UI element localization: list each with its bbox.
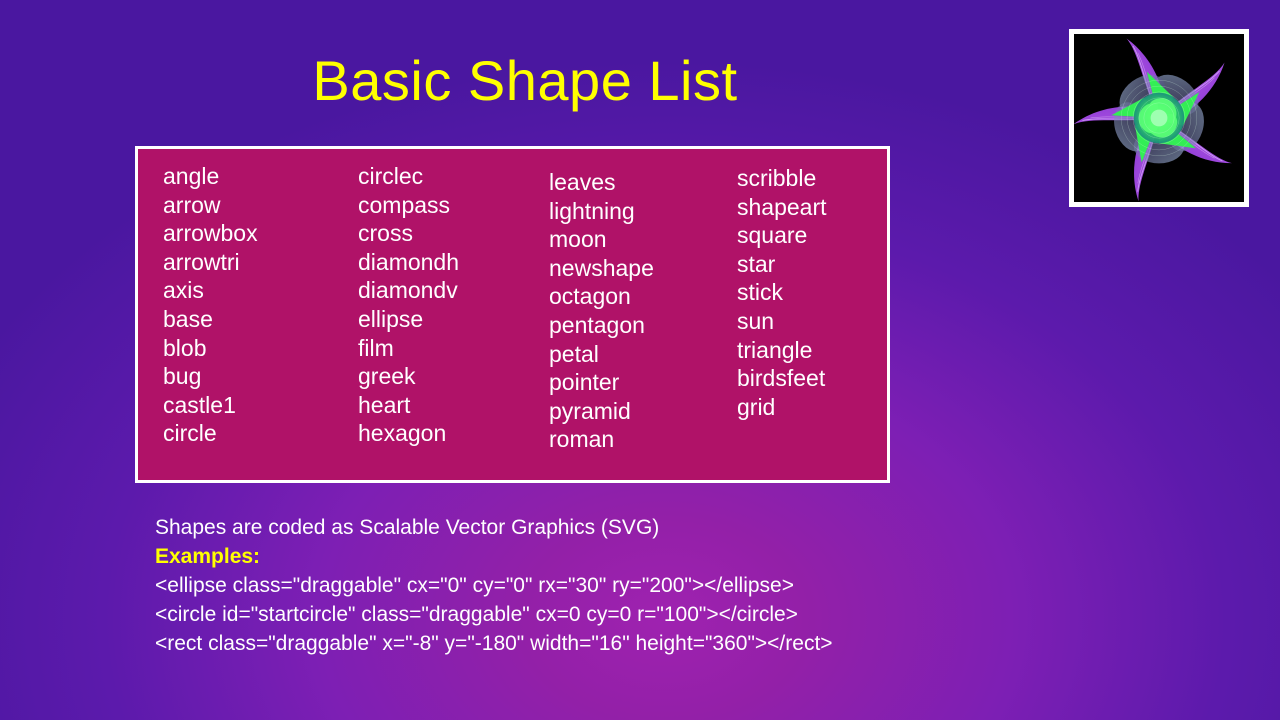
intro-line: Shapes are coded as Scalable Vector Grap… — [155, 513, 1155, 542]
shape-item: circle — [163, 419, 258, 448]
shape-item: arrowtri — [163, 248, 258, 277]
shape-item: moon — [549, 225, 654, 254]
shape-item: roman — [549, 425, 654, 454]
shape-item: compass — [358, 191, 459, 220]
code-line-rect: <rect class="draggable" x="-8" y="-180" … — [155, 629, 1155, 658]
shape-item: heart — [358, 391, 459, 420]
shape-item: grid — [737, 393, 827, 422]
shape-item: sun — [737, 307, 827, 336]
spiral-artwork-svg — [1074, 34, 1244, 202]
shapeart-thumbnail-image — [1069, 29, 1249, 207]
shape-list-box: angle arrow arrowbox arrowtri axis base … — [135, 146, 890, 483]
code-line-circle: <circle id="startcircle" class="draggabl… — [155, 600, 1155, 629]
shape-item: hexagon — [358, 419, 459, 448]
shape-item: triangle — [737, 336, 827, 365]
shape-item: pyramid — [549, 397, 654, 426]
examples-label: Examples: — [155, 542, 1155, 571]
slide-canvas: Basic Shape List angle arrow arrowbox ar… — [0, 0, 1280, 720]
shape-item: ellipse — [358, 305, 459, 334]
shape-item: octagon — [549, 282, 654, 311]
shape-item: greek — [358, 362, 459, 391]
shape-item: arrowbox — [163, 219, 258, 248]
shape-column-1: angle arrow arrowbox arrowtri axis base … — [163, 162, 258, 448]
shape-item: arrow — [163, 191, 258, 220]
shape-item: base — [163, 305, 258, 334]
shape-item: star — [737, 250, 827, 279]
shape-item: newshape — [549, 254, 654, 283]
shape-item: circlec — [358, 162, 459, 191]
shape-item: blob — [163, 334, 258, 363]
code-line-ellipse: <ellipse class="draggable" cx="0" cy="0"… — [155, 571, 1155, 600]
shape-column-2: circlec compass cross diamondh diamondv … — [358, 162, 459, 448]
shape-column-3: leaves lightning moon newshape octagon p… — [549, 168, 654, 454]
shape-column-4: scribble shapeart square star stick sun … — [737, 164, 827, 421]
shape-item: pointer — [549, 368, 654, 397]
shape-item: leaves — [549, 168, 654, 197]
shape-item: cross — [358, 219, 459, 248]
shape-item: stick — [737, 278, 827, 307]
shape-item: film — [358, 334, 459, 363]
shape-item: birdsfeet — [737, 364, 827, 393]
shape-item: scribble — [737, 164, 827, 193]
shape-item: square — [737, 221, 827, 250]
shape-item: petal — [549, 340, 654, 369]
shape-item: angle — [163, 162, 258, 191]
shape-item: pentagon — [549, 311, 654, 340]
shape-item: axis — [163, 276, 258, 305]
shape-item: shapeart — [737, 193, 827, 222]
shape-item: castle1 — [163, 391, 258, 420]
shape-item: lightning — [549, 197, 654, 226]
shape-item: bug — [163, 362, 258, 391]
shape-item: diamondh — [358, 248, 459, 277]
page-title: Basic Shape List — [0, 52, 1050, 111]
shape-item: diamondv — [358, 276, 459, 305]
body-text-block: Shapes are coded as Scalable Vector Grap… — [155, 513, 1155, 658]
